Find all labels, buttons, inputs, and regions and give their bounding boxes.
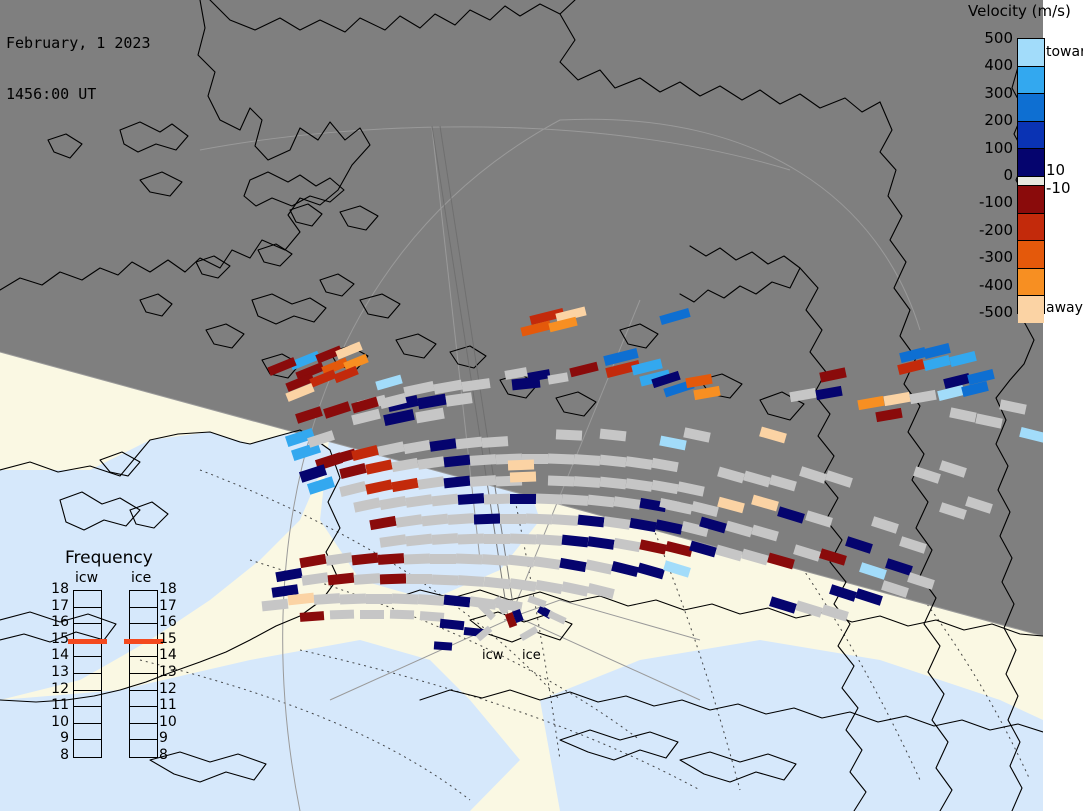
ground-scatter-cell[interactable]: [456, 554, 482, 565]
colorbar-tick--200: -200: [955, 221, 1013, 239]
frequency-segment: [130, 657, 157, 674]
frequency-tick-left-12: 12: [47, 681, 69, 697]
frequency-segment: [74, 591, 101, 608]
ground-scatter-cell[interactable]: [574, 476, 601, 488]
frequency-marker: [68, 639, 107, 644]
frequency-tick-left-8: 8: [47, 747, 69, 763]
velocity-cell[interactable]: [300, 611, 325, 622]
ground-scatter-cell[interactable]: [526, 514, 552, 525]
velocity-cell[interactable]: [510, 494, 536, 504]
frequency-segment: [130, 740, 157, 757]
frequency-bar-icw[interactable]: [73, 590, 102, 758]
colorbar-tick-100: 100: [955, 139, 1013, 157]
frequency-scale-name-icw: icw: [75, 570, 98, 586]
ground-scatter-cell[interactable]: [458, 534, 484, 545]
frequency-tick-left-14: 14: [47, 647, 69, 663]
colorbar-tick-200: 200: [955, 111, 1013, 129]
colorbar-threshold-low: -10: [1046, 179, 1071, 197]
frequency-tick-right-8: 8: [159, 747, 181, 763]
ground-scatter-cell[interactable]: [552, 514, 579, 526]
ground-scatter-cell[interactable]: [548, 476, 574, 487]
ground-scatter-cell[interactable]: [470, 475, 497, 487]
ground-scatter-cell[interactable]: [482, 554, 509, 566]
colorbar-band-450: [1018, 39, 1044, 66]
frequency-tick-right-9: 9: [159, 730, 181, 746]
ground-scatter-cell[interactable]: [418, 594, 445, 606]
colorbar-band--250: [1018, 240, 1044, 268]
frequency-tick-left-15: 15: [47, 631, 69, 647]
colorbar-tick-500: 500: [955, 29, 1013, 47]
frequency-tick-left-9: 9: [47, 730, 69, 746]
radar-map-screenshot: icw ice Frequency icw ice 18171615141312…: [0, 0, 1083, 811]
colorbar-band--55: [1018, 185, 1044, 213]
frequency-segment: [130, 724, 157, 741]
frequency-tick-left-13: 13: [47, 664, 69, 680]
colorbar-band--450: [1018, 295, 1044, 323]
frequency-scale-name-ice: ice: [131, 570, 151, 586]
ground-scatter-cell[interactable]: [404, 554, 430, 565]
ground-scatter-cell[interactable]: [392, 594, 418, 605]
velocity-cell[interactable]: [434, 641, 453, 650]
ground-scatter-cell[interactable]: [470, 454, 497, 466]
velocity-cell[interactable]: [474, 514, 500, 525]
frequency-segment: [74, 740, 101, 757]
colorbar-panel: [1043, 0, 1083, 811]
ground-scatter-cell[interactable]: [432, 575, 458, 586]
frequency-tick-left-10: 10: [47, 714, 69, 730]
velocity-cell[interactable]: [508, 460, 534, 471]
colorbar-band--350: [1018, 268, 1044, 296]
colorbar-tick--400: -400: [955, 276, 1013, 294]
ground-scatter-cell[interactable]: [354, 573, 381, 585]
colorbar-threshold-high: 10: [1046, 161, 1065, 179]
colorbar-band-55: [1018, 148, 1044, 176]
radar-site-label-ice: ice: [522, 648, 541, 663]
ground-scatter-cell[interactable]: [432, 533, 459, 545]
ground-scatter-cell[interactable]: [482, 436, 509, 448]
colorbar-tick-400: 400: [955, 56, 1013, 74]
colorbar-away-label: away: [1046, 300, 1083, 316]
frequency-marker: [124, 639, 163, 644]
frequency-tick-right-16: 16: [159, 614, 181, 630]
velocity-cell[interactable]: [380, 574, 406, 585]
velocity-cell[interactable]: [458, 493, 485, 505]
frequency-tick-left-11: 11: [47, 697, 69, 713]
title-date: February, 1 2023: [6, 35, 151, 52]
colorbar-band-250: [1018, 93, 1044, 121]
frequency-tick-right-18: 18: [159, 581, 181, 597]
frequency-segment: [74, 608, 101, 625]
ground-scatter-cell[interactable]: [430, 554, 456, 564]
colorbar-band-0: [1018, 176, 1044, 185]
frequency-segment: [74, 674, 101, 691]
ground-scatter-cell[interactable]: [536, 494, 562, 505]
title-time: 1456:00 UT: [6, 86, 151, 103]
ground-scatter-cell[interactable]: [536, 534, 563, 546]
ground-scatter-cell[interactable]: [406, 574, 432, 584]
frequency-segment: [74, 707, 101, 724]
frequency-tick-right-15: 15: [159, 631, 181, 647]
colorbar-title: Velocity (m/s): [968, 2, 1071, 20]
frequency-legend: Frequency icw ice 18171615141312111098 1…: [55, 548, 205, 798]
ground-scatter-cell[interactable]: [556, 429, 582, 440]
frequency-segment: [130, 591, 157, 608]
frequency-bar-ice[interactable]: [129, 590, 158, 758]
colorbar-band--150: [1018, 213, 1044, 241]
radar-site-label-icw: icw: [482, 648, 503, 663]
colorbar-tick--100: -100: [955, 193, 1013, 211]
ground-scatter-cell[interactable]: [360, 610, 384, 619]
frequency-legend-title: Frequency: [65, 548, 153, 568]
ground-scatter-cell[interactable]: [314, 593, 341, 605]
ground-scatter-cell[interactable]: [484, 534, 510, 544]
frequency-segment: [130, 691, 157, 708]
ground-scatter-cell[interactable]: [574, 454, 601, 466]
ground-scatter-cell[interactable]: [548, 454, 574, 465]
velocity-cell[interactable]: [510, 472, 536, 483]
ground-scatter-cell[interactable]: [366, 594, 392, 604]
colorbar-tick-0: 0: [955, 166, 1013, 184]
ground-scatter-cell[interactable]: [340, 594, 366, 605]
ground-scatter-cell[interactable]: [448, 513, 475, 525]
ground-scatter-cell[interactable]: [562, 494, 589, 506]
frequency-tick-left-17: 17: [47, 598, 69, 614]
colorbar-band-150: [1018, 121, 1044, 149]
frequency-tick-right-11: 11: [159, 697, 181, 713]
map-canvas[interactable]: icw ice Frequency icw ice 18171615141312…: [0, 0, 1043, 811]
ground-scatter-cell[interactable]: [330, 610, 354, 620]
ground-scatter-cell[interactable]: [390, 610, 414, 620]
frequency-segment: [130, 608, 157, 625]
velocity-cell[interactable]: [378, 553, 405, 565]
frequency-tick-right-12: 12: [159, 681, 181, 697]
colorbar-band-350: [1018, 66, 1044, 94]
colorbar-tick--500: -500: [955, 303, 1013, 321]
timestamp-title: February, 1 2023 1456:00 UT: [6, 1, 151, 137]
frequency-tick-left-16: 16: [47, 614, 69, 630]
frequency-tick-right-13: 13: [159, 664, 181, 680]
frequency-tick-right-10: 10: [159, 714, 181, 730]
frequency-segment: [74, 691, 101, 708]
frequency-tick-right-14: 14: [159, 647, 181, 663]
frequency-segment: [130, 707, 157, 724]
frequency-tick-right-17: 17: [159, 598, 181, 614]
colorbar-tick--300: -300: [955, 248, 1013, 266]
colorbar-gradient[interactable]: [1017, 38, 1045, 314]
ground-scatter-cell[interactable]: [458, 575, 485, 587]
frequency-tick-left-18: 18: [47, 581, 69, 597]
frequency-segment: [130, 674, 157, 691]
colorbar-tick-300: 300: [955, 84, 1013, 102]
ground-scatter-cell[interactable]: [484, 494, 510, 505]
ground-scatter-cell[interactable]: [500, 514, 526, 524]
frequency-segment: [74, 657, 101, 674]
ground-scatter-cell[interactable]: [510, 534, 536, 545]
frequency-segment: [74, 724, 101, 741]
colorbar-toward-label: toward: [1046, 44, 1083, 60]
